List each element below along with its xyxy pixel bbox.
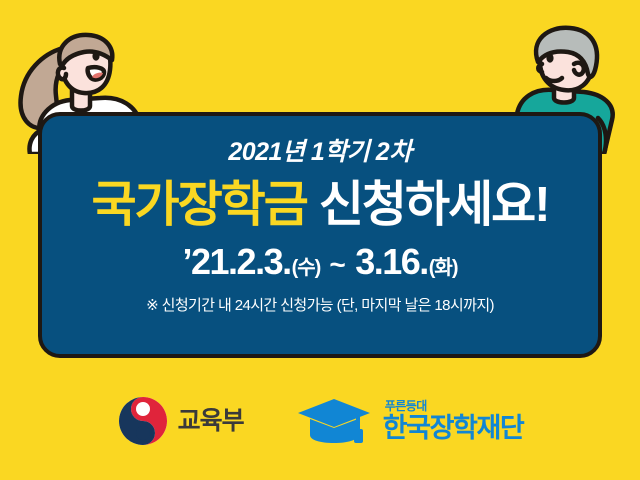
kosaf-text: 푸른등대 한국장학재단 — [383, 400, 524, 442]
man-nose — [538, 64, 542, 72]
man-mouth — [546, 78, 562, 81]
taegeuk-lower-dot — [136, 426, 150, 440]
kosaf-sublabel: 푸른등대 — [385, 400, 427, 412]
period-start-date: ’21.2.3. — [183, 244, 291, 280]
moe-logo: 교육부 — [117, 395, 244, 447]
headline-rest: 신청하세요! — [319, 181, 549, 230]
graduation-cap-icon — [296, 395, 374, 447]
man-ear — [574, 63, 584, 75]
footer-logos: 교육부 푸른등대 한국장학재단 — [0, 386, 640, 456]
period-start-day: (수) — [292, 258, 321, 278]
kosaf-label: 한국장학재단 — [383, 415, 524, 442]
woman-face — [62, 38, 110, 93]
board-subtitle: 2021년 1학기 2차 — [228, 140, 411, 165]
application-period: ’21.2.3. (수) ~ 3.16. (화) — [183, 244, 458, 280]
period-end-day: (화) — [429, 258, 458, 278]
period-end-date: 3.16. — [355, 244, 428, 280]
scholarship-banner: 2021년 1학기 2차 국가장학금 신청하세요! ’21.2.3. (수) ~… — [0, 0, 640, 480]
woman-neck — [72, 84, 90, 111]
period-separator: ~ — [329, 251, 344, 279]
taegeuk-icon — [117, 395, 169, 447]
woman-mouth — [88, 67, 104, 79]
man-eye — [546, 53, 553, 62]
woman-hair-front — [59, 35, 112, 66]
board-headline: 국가장학금 신청하세요! — [91, 181, 548, 230]
taegeuk-upper-dot — [136, 402, 150, 416]
board-content: 2021년 1학기 2차 국가장학금 신청하세요! ’21.2.3. (수) ~… — [42, 116, 598, 354]
cap-tassel — [354, 429, 363, 443]
moe-label: 교육부 — [178, 409, 244, 434]
man-neck — [554, 76, 574, 103]
headline-highlight: 국가장학금 — [91, 181, 306, 230]
man-hair — [536, 28, 597, 77]
kosaf-logo: 푸른등대 한국장학재단 — [296, 395, 524, 447]
woman-tongue — [92, 73, 103, 79]
announcement-board: 2021년 1학기 2차 국가장학금 신청하세요! ’21.2.3. (수) ~… — [38, 112, 602, 358]
woman-eye — [92, 51, 99, 60]
woman-ear — [58, 68, 66, 80]
application-note: ※ 신청기간 내 24시간 신청가능 (단, 마지막 날은 18시까지) — [146, 298, 494, 313]
man-face — [540, 34, 592, 91]
